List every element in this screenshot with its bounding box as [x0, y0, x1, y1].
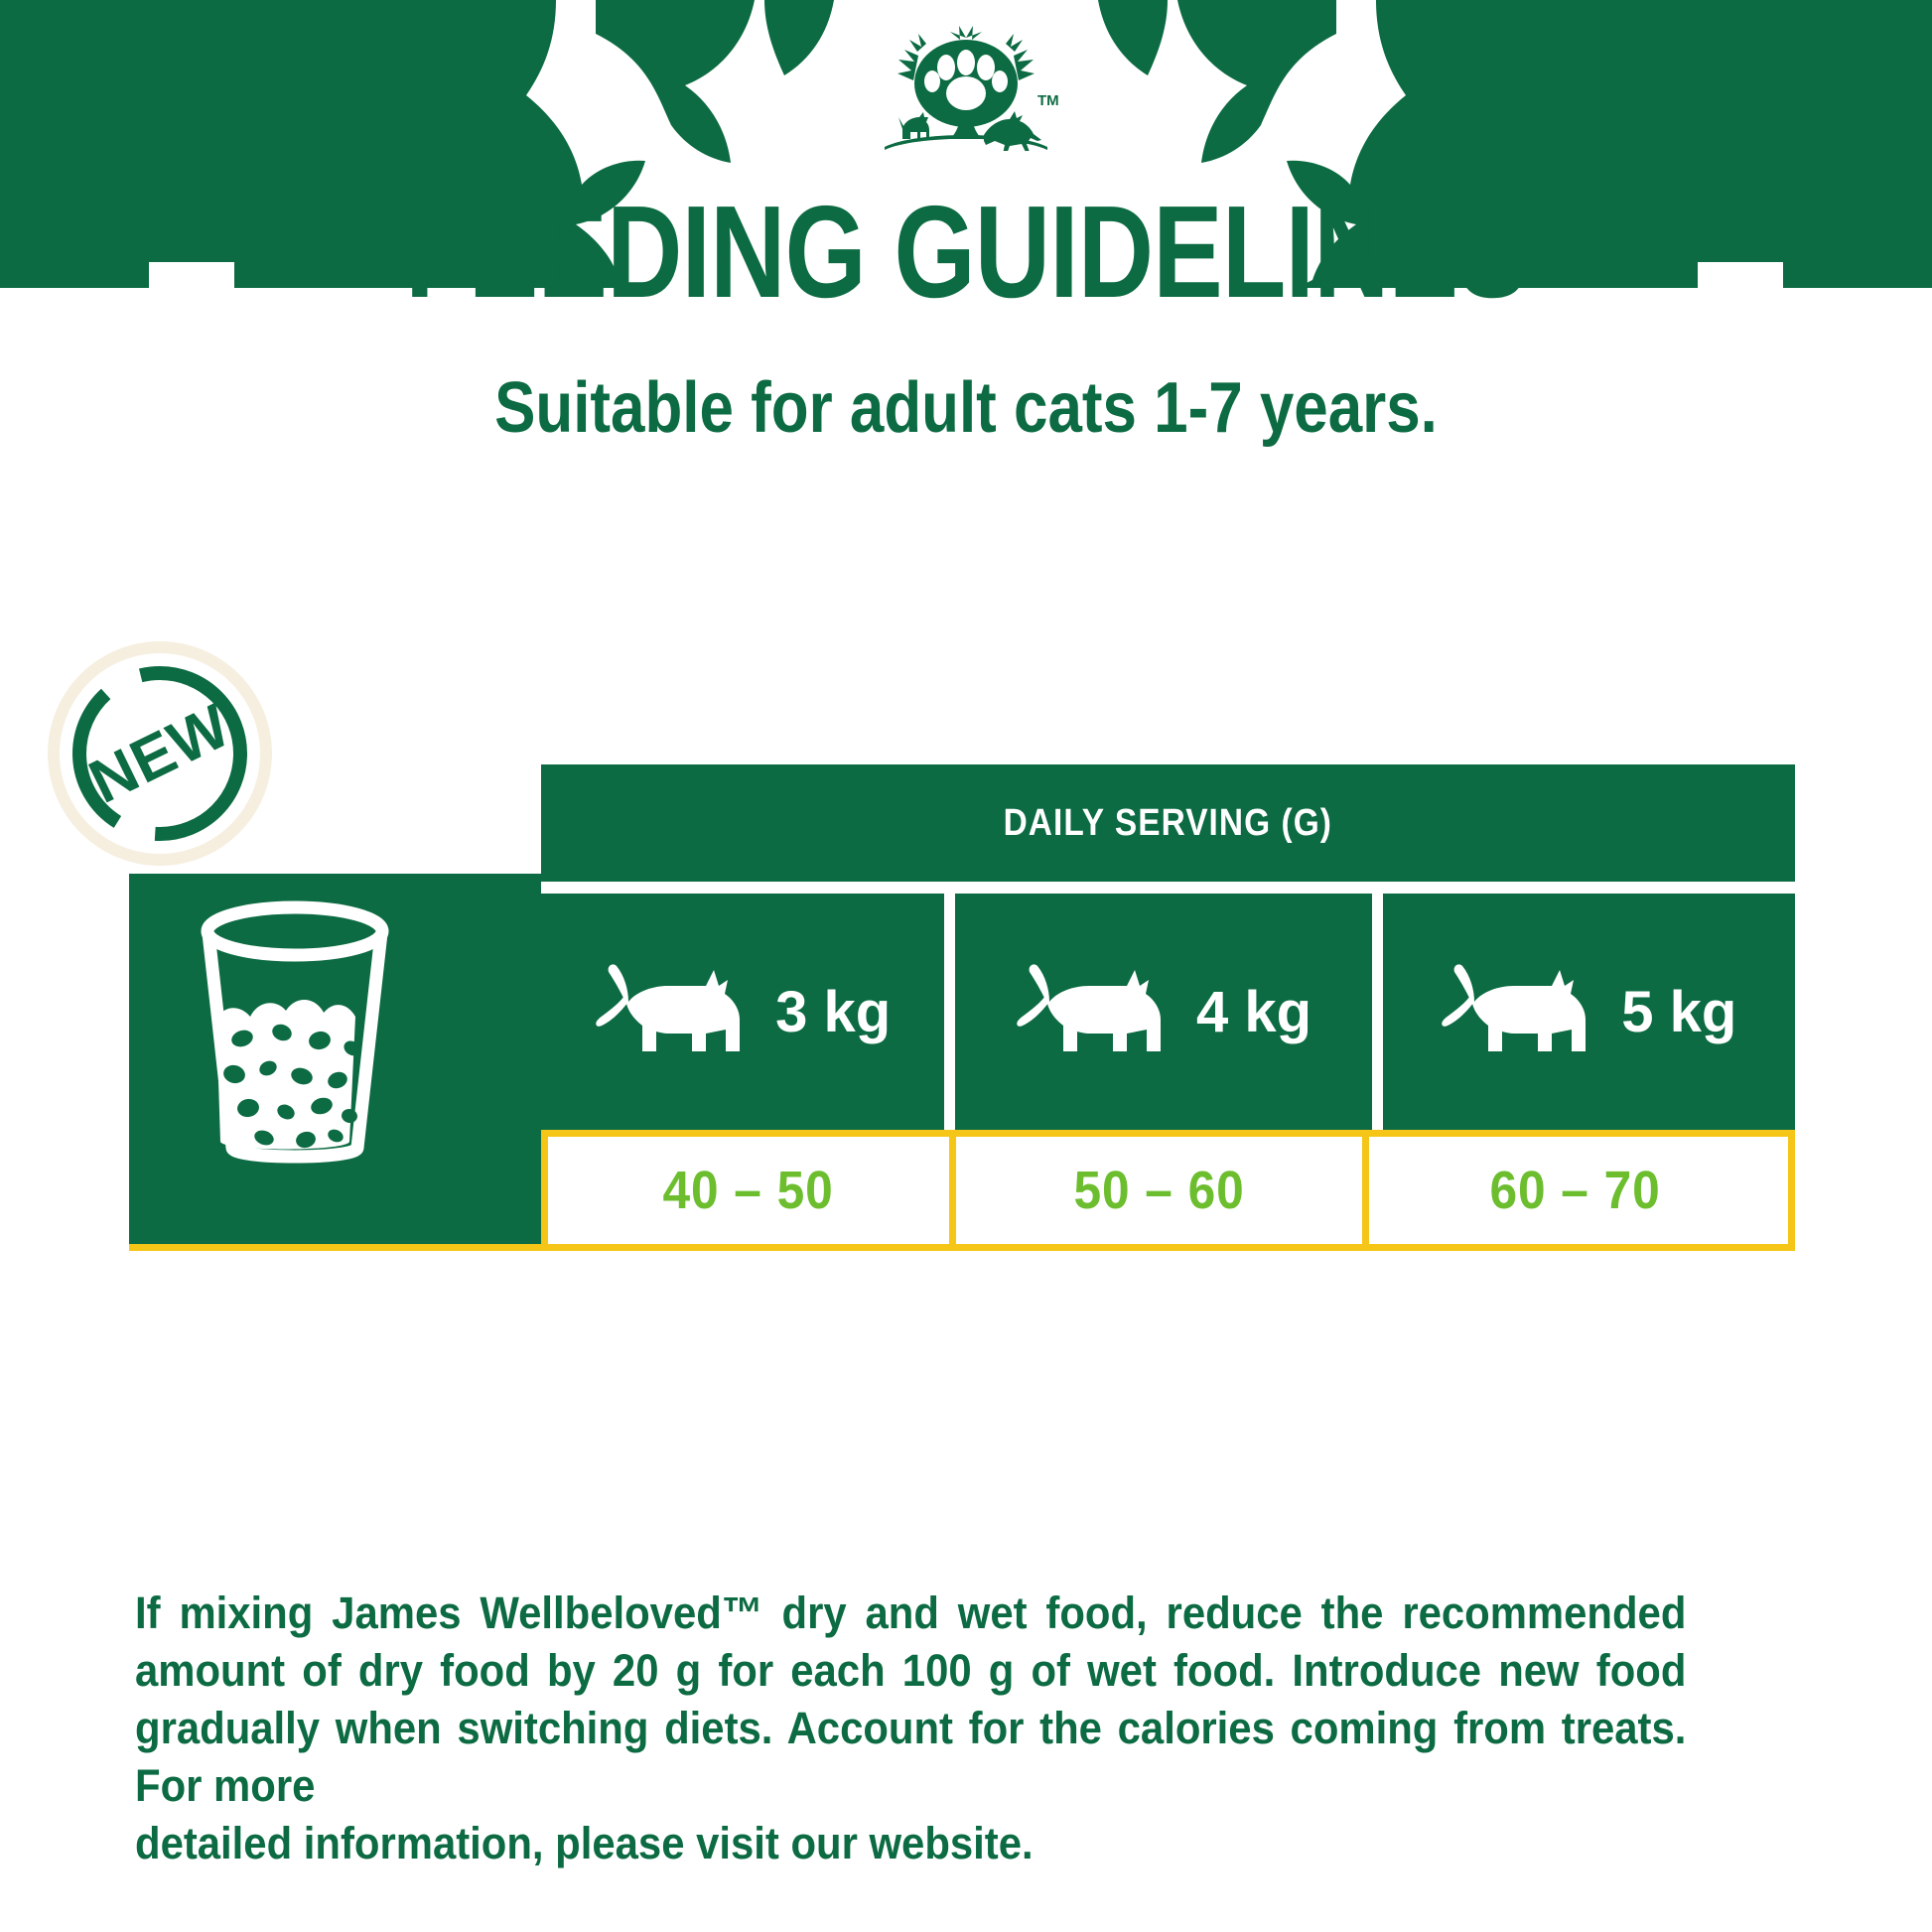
page-subtitle: Suitable for adult cats 1-7 years. — [135, 369, 1797, 447]
footer-note: If mixing James Wellbeloved™ dry and wet… — [135, 1585, 1686, 1872]
daily-serving-header: DAILY SERVING (G) — [541, 764, 1795, 882]
serving-cell-3kg: 40 – 50 — [548, 1137, 949, 1244]
weight-cell-3kg: 3 kg — [541, 894, 944, 1130]
daily-serving-header-label: DAILY SERVING (G) — [1004, 802, 1332, 845]
serving-cell-5kg: 60 – 70 — [1369, 1137, 1781, 1244]
footer-note-last-line: detailed information, please visit our w… — [135, 1815, 1686, 1872]
feeding-table: DAILY SERVING (G) 3 kg 4 kg — [129, 764, 1795, 1251]
serving-value-4kg: 50 – 60 — [1073, 1160, 1244, 1221]
left-panel-underline — [129, 1244, 541, 1251]
weight-label-5kg: 5 kg — [1621, 979, 1736, 1045]
cat-icon — [1016, 956, 1174, 1068]
footer-note-paragraph: If mixing James Wellbeloved™ dry and wet… — [135, 1585, 1686, 1815]
serving-value-3kg: 40 – 50 — [663, 1160, 834, 1221]
serving-values-row: 40 – 50 50 – 60 60 – 70 — [541, 1130, 1795, 1251]
james-wellbeloved-logo: TM — [867, 22, 1065, 151]
measuring-cup-cell — [129, 874, 541, 1251]
serving-value-5kg: 60 – 70 — [1489, 1160, 1660, 1221]
weight-cell-5kg: 5 kg — [1383, 894, 1795, 1130]
weight-cell-4kg: 4 kg — [955, 894, 1371, 1130]
weight-header-row: 3 kg 4 kg 5 kg — [541, 894, 1795, 1130]
cat-icon — [595, 956, 754, 1068]
serving-cell-4kg: 50 – 60 — [949, 1137, 1369, 1244]
svg-text:TM: TM — [1037, 92, 1059, 109]
cat-icon — [1441, 956, 1599, 1068]
weight-label-4kg: 4 kg — [1196, 979, 1311, 1045]
measuring-cup-with-kibble-icon — [191, 899, 399, 1173]
weight-label-3kg: 3 kg — [775, 979, 891, 1045]
page-title: FEEDING GUIDELINES — [194, 187, 1739, 318]
